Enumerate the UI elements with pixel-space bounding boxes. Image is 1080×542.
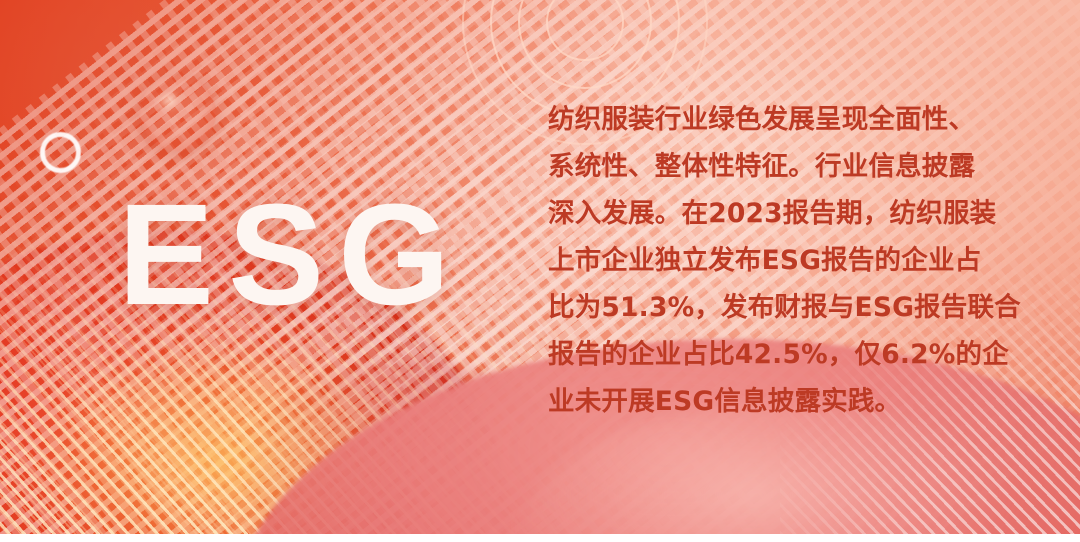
body-copy: 纺织服装行业绿色发展呈现全面性、 系统性、整体性特征。行业信息披露 深入发展。在… — [548, 96, 1000, 425]
bottom-white-strip — [0, 534, 1080, 542]
body-copy-line: 比为51.3%，发布财报与ESG报告联合 — [548, 284, 1000, 331]
body-copy-line: 系统性、整体性特征。行业信息披露 — [548, 143, 1000, 190]
body-copy-line: 业未开展ESG信息披露实践。 — [548, 378, 1000, 425]
sphere-highlight — [156, 90, 182, 112]
body-copy-line: 纺织服装行业绿色发展呈现全面性、 — [548, 96, 1000, 143]
esg-wordmark: ESG — [118, 183, 464, 327]
outline-ring-icon — [40, 132, 81, 173]
body-copy-line: 上市企业独立发布ESG报告的企业占 — [548, 237, 1000, 284]
body-copy-line: 深入发展。在2023报告期，纺织服装 — [548, 190, 1000, 237]
body-copy-line: 报告的企业占比42.5%，仅6.2%的企 — [548, 331, 1000, 378]
sphere-icon — [140, 75, 216, 151]
esg-banner: ESG 纺织服装行业绿色发展呈现全面性、 系统性、整体性特征。行业信息披露 深入… — [0, 0, 1080, 542]
banner-artwork: ESG 纺织服装行业绿色发展呈现全面性、 系统性、整体性特征。行业信息披露 深入… — [0, 0, 1080, 534]
